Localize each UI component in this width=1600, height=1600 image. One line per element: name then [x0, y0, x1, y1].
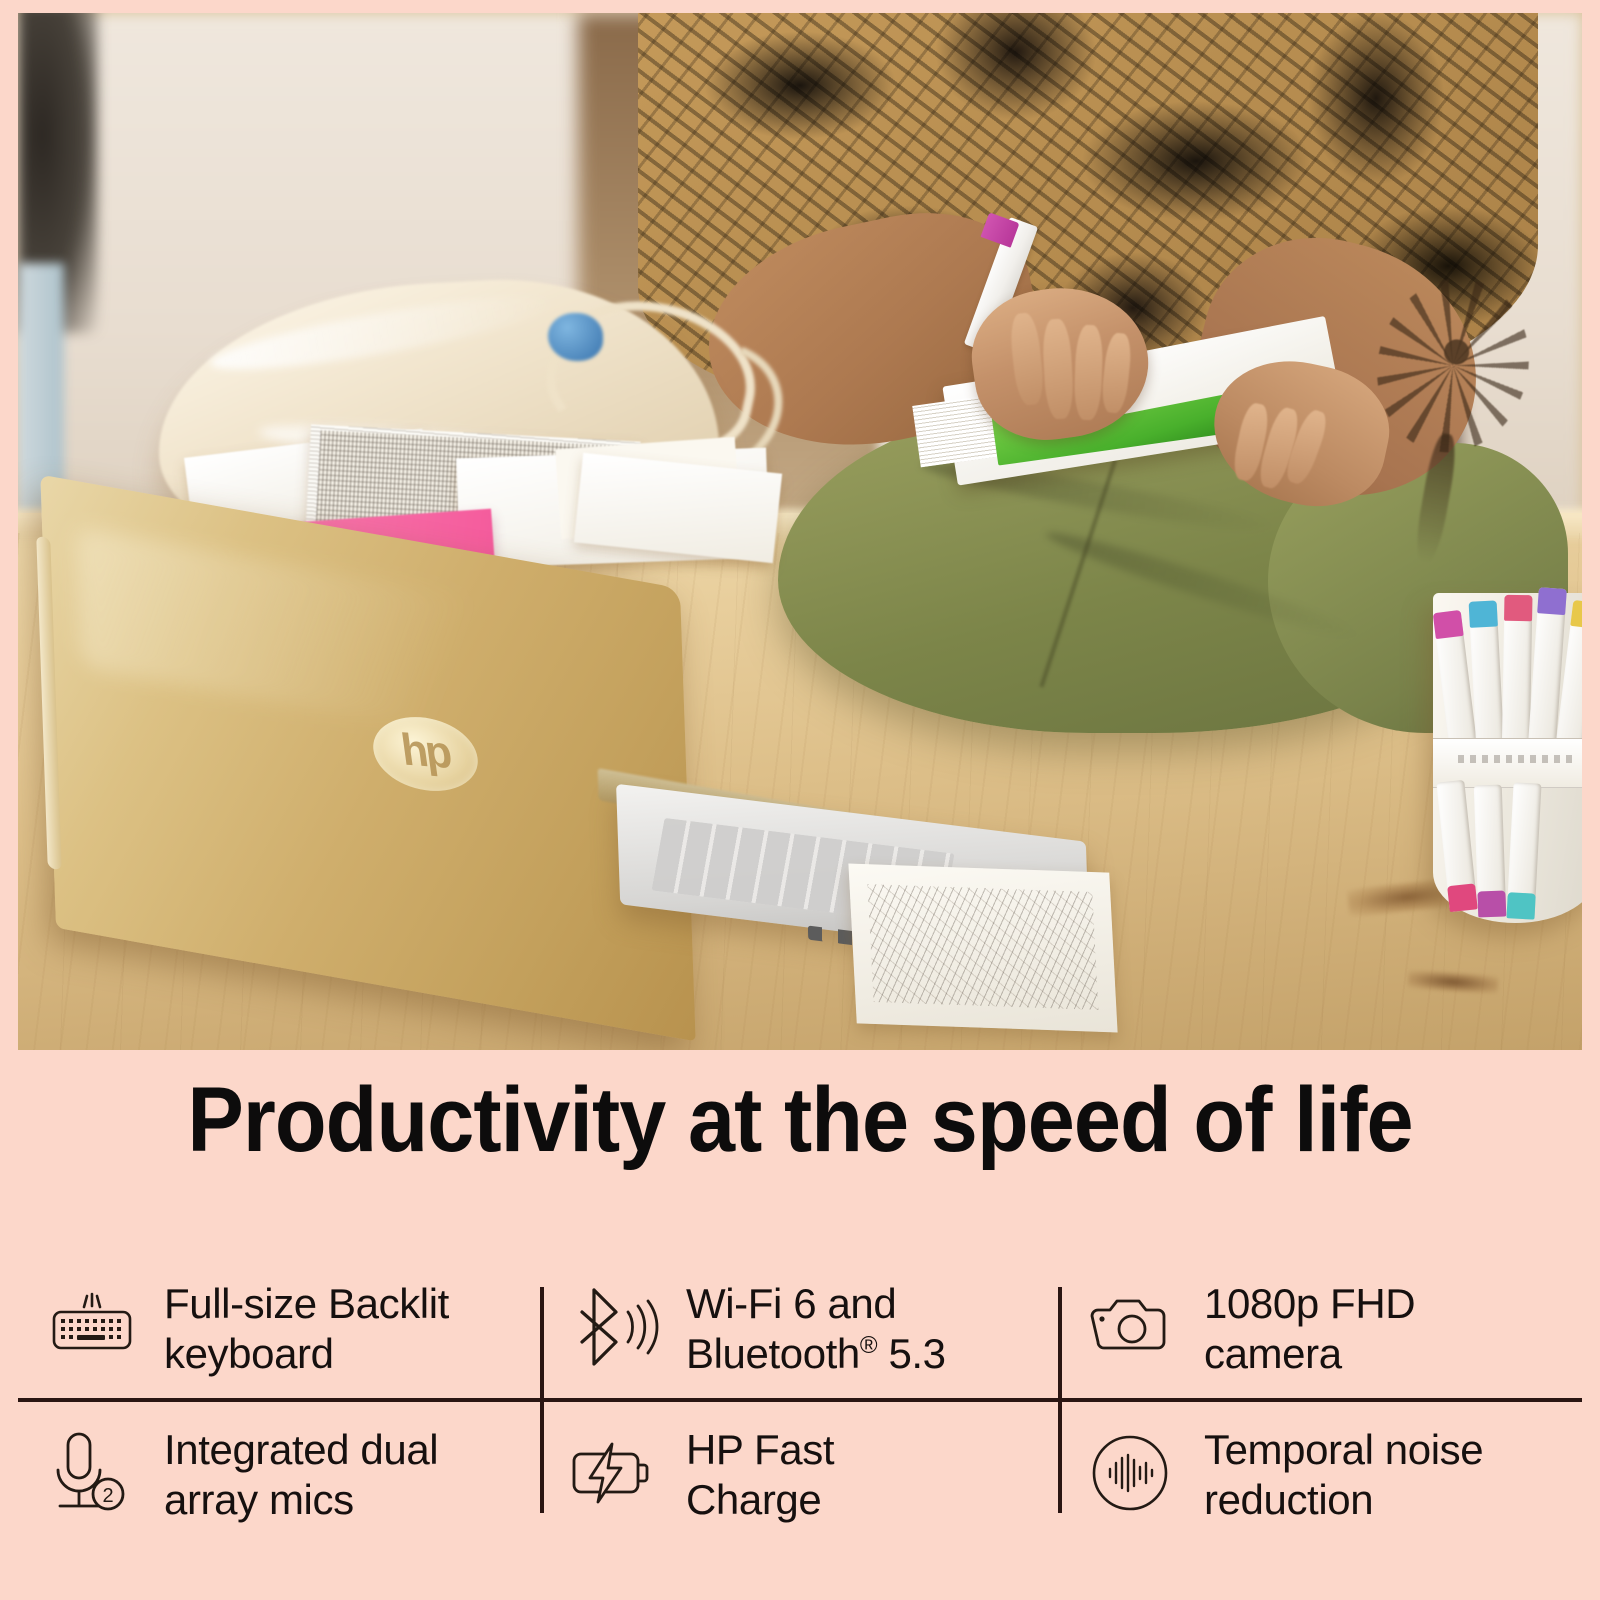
feature-keyboard: Full-size Backlit keyboard [46, 1277, 516, 1378]
feature-label: Full-size Backlit keyboard [164, 1277, 449, 1378]
bluetooth-wifi-icon [568, 1281, 660, 1373]
vertical-divider [1058, 1287, 1062, 1513]
camera-icon [1086, 1281, 1178, 1373]
registered-mark: ® [860, 1332, 877, 1359]
marker-tip [1570, 600, 1582, 629]
wireless-line2-pre: Bluetooth [686, 1330, 860, 1377]
marker-tip [1537, 587, 1567, 615]
feature-noise-reduction: Temporal noise reduction [1086, 1423, 1556, 1524]
vertical-divider [540, 1287, 544, 1513]
marker-cup-label [1458, 755, 1578, 763]
feature-camera: 1080p FHD camera [1086, 1277, 1556, 1378]
page-title: Productivity at the speed of life [64, 1074, 1536, 1166]
hp-logo: hp [369, 714, 483, 795]
feature-label: 1080p FHD camera [1204, 1277, 1415, 1378]
marker [1474, 785, 1507, 918]
marker-tip [1469, 600, 1498, 627]
feature-label: HP Fast Charge [686, 1423, 834, 1524]
svg-text:2: 2 [102, 1485, 113, 1507]
hp-logo-text: hp [368, 712, 482, 793]
sketch-notebook [848, 864, 1117, 1033]
hero-photo: hp [18, 13, 1582, 1050]
marker-tip [1506, 892, 1535, 919]
wireless-line2-post: 5.3 [877, 1330, 945, 1377]
feature-microphone: 2 Integrated dual array mics [46, 1423, 516, 1524]
marker-tip [1504, 595, 1532, 621]
feature-label: Wi-Fi 6 andBluetooth® 5.3 [686, 1277, 946, 1378]
marker-tip [1433, 610, 1464, 639]
waveform-circle-icon [1086, 1427, 1178, 1519]
feature-fast-charge: HP Fast Charge [568, 1423, 1038, 1524]
ad-card: hp Produc [0, 0, 1600, 1600]
feature-wireless: Wi-Fi 6 andBluetooth® 5.3 [568, 1277, 1038, 1378]
blue-object [548, 313, 603, 361]
marker-tip [1447, 883, 1478, 912]
feature-label: Integrated dual array mics [164, 1423, 438, 1524]
marker-tip [1477, 890, 1506, 917]
feature-label: Temporal noise reduction [1204, 1423, 1483, 1524]
microphone-dual-icon: 2 [46, 1427, 138, 1519]
horizontal-divider [18, 1398, 1582, 1402]
keyboard-backlit-icon [46, 1281, 138, 1373]
battery-charge-icon [568, 1427, 660, 1519]
feature-grid: Full-size Backlit keyboard Wi-Fi 6 andBl… [18, 1255, 1582, 1555]
wireless-line1: Wi-Fi 6 and [686, 1280, 896, 1327]
